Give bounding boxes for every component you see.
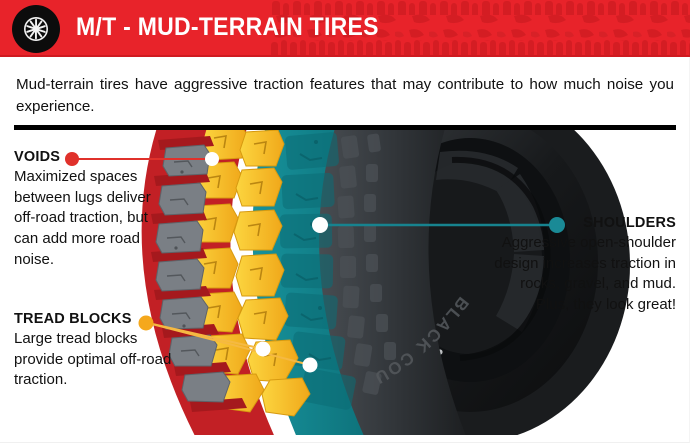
tire-wheel-icon <box>12 5 60 53</box>
header-banner: M/T - MUD-TERRAIN TIRES <box>0 0 690 57</box>
callout-tread-blocks-body: Large tread blocks provide optimal off-r… <box>14 329 189 391</box>
callout-tread-blocks-heading: TREAD BLOCKS <box>14 312 189 328</box>
callout-voids: VOIDS Maximized spaces between lugs deli… <box>14 150 174 270</box>
callout-tread-blocks: TREAD BLOCKS Large tread blocks provide … <box>14 312 189 391</box>
page-title: M/T - MUD-TERRAIN TIRES <box>76 13 379 42</box>
infographic-page: M/T - MUD-TERRAIN TIRES Mud-terrain tire… <box>0 0 690 443</box>
callout-shoulders: SHOULDERS Aggressive open-shoulder desig… <box>488 216 676 316</box>
callout-voids-body: Maximized spaces between lugs deliver of… <box>14 167 174 270</box>
callout-shoulders-heading: SHOULDERS <box>488 216 676 232</box>
intro-paragraph: Mud-terrain tires have aggressive tracti… <box>16 74 674 117</box>
callout-voids-heading: VOIDS <box>14 150 174 166</box>
callout-shoulders-body: Aggressive open-shoulder design increase… <box>488 233 676 316</box>
